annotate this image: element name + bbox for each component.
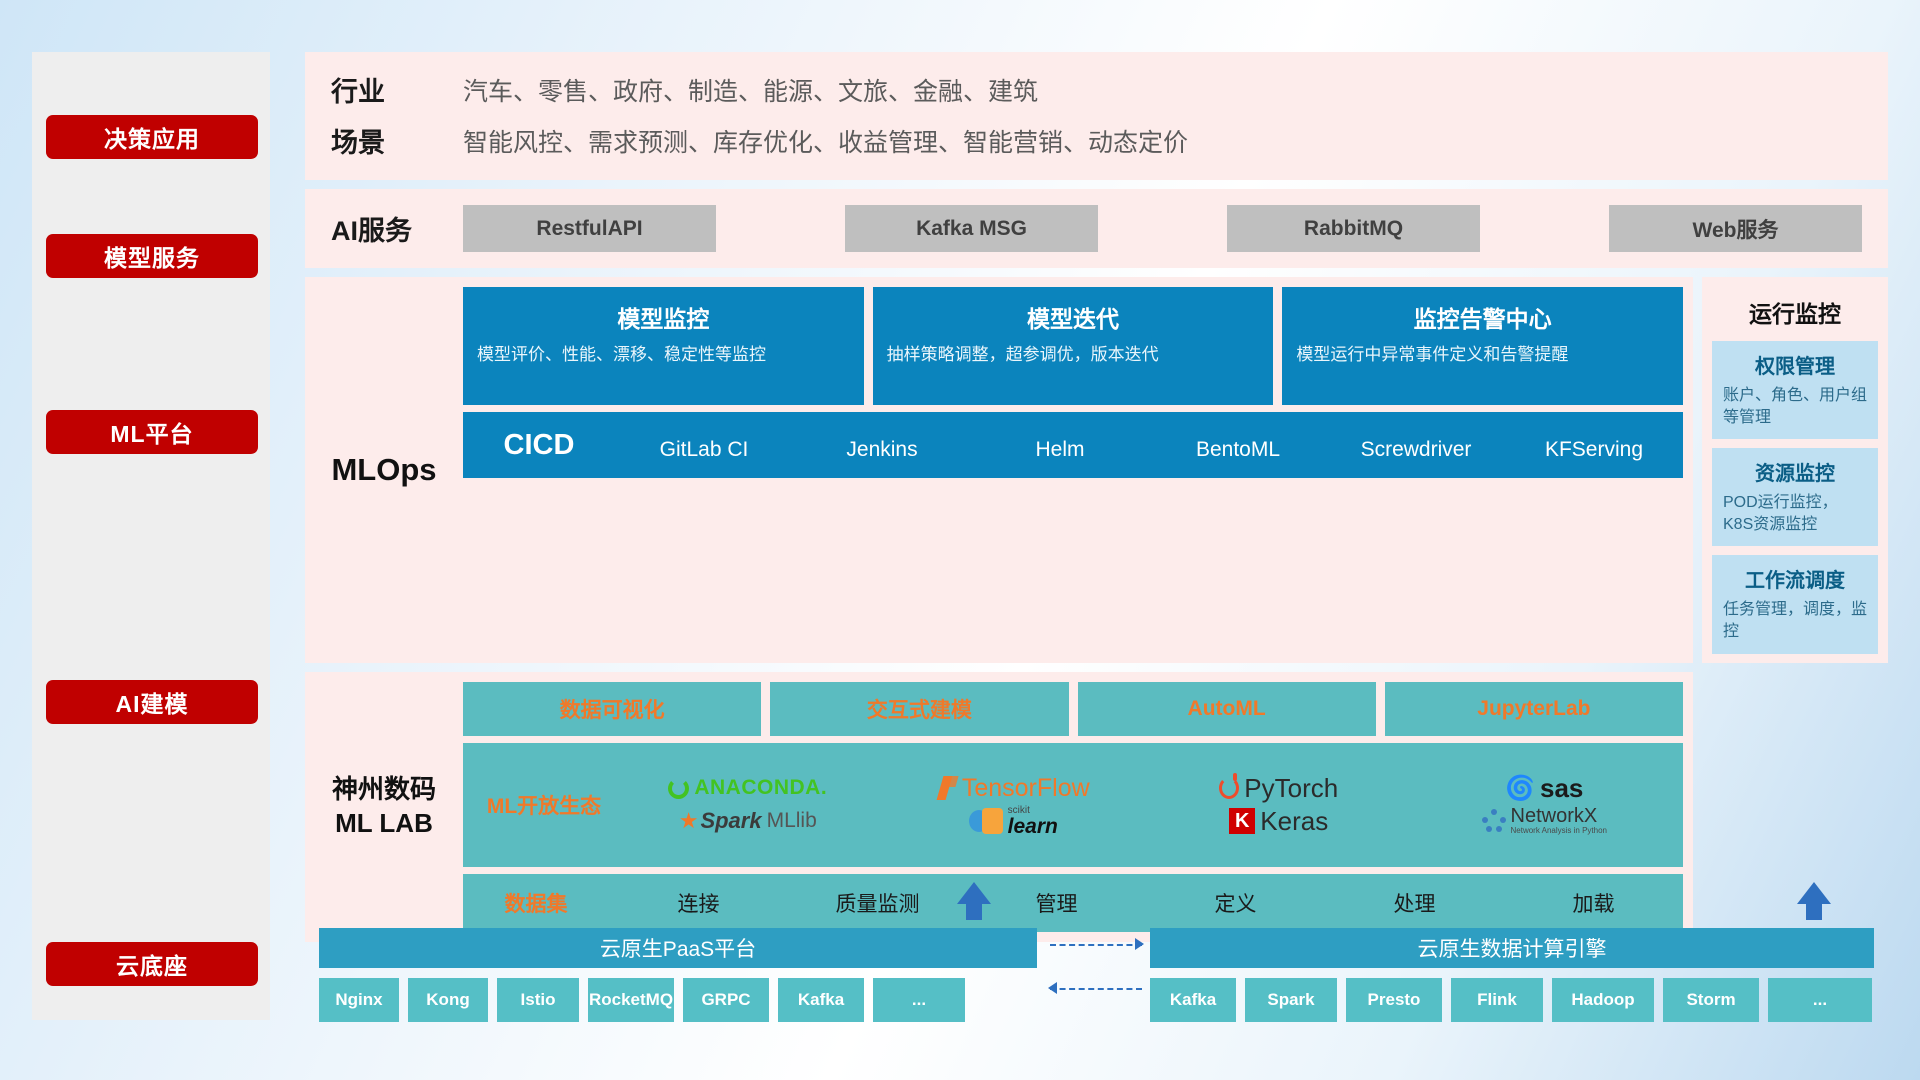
tensorflow-mark-icon [937,776,957,800]
card-title: 权限管理 [1723,350,1867,379]
data-engine-label: 云原生数据计算引擎 [1418,933,1607,963]
logo-text: sas [1540,773,1583,804]
tag-label: Istio [521,991,556,1009]
card-desc: 账户、角色、用户组等管理 [1723,385,1867,428]
card-title: 模型监控 [477,300,850,334]
chip-label: Kafka MSG [916,217,1027,241]
card-title: 工作流调度 [1723,564,1867,593]
keras-logo[interactable]: K Keras [1229,806,1328,837]
logo-text: NetworkX [1511,806,1608,827]
runtime-monitor-column: 运行监控 权限管理 账户、角色、用户组等管理 资源监控 POD运行监控，K8S资… [1702,277,1888,663]
cicd-row: CICD GitLab CI Jenkins Helm BentoML Scre… [463,412,1683,478]
dashed-line-left [1050,988,1142,990]
tag-spark[interactable]: Spark [1245,978,1337,1022]
cicd-tool-helm[interactable]: Helm [971,439,1149,461]
tag-label: Kong [426,991,469,1009]
ai-service-band: AI服务 RestfulAPI Kafka MSG RabbitMQ Web服务 [305,189,1888,268]
tag-label: RocketMQ [589,991,673,1009]
mlops-card-model-iteration[interactable]: 模型迭代 抽样策略调整，超参调优，版本迭代 [873,287,1274,405]
main-stack: 行业 汽车、零售、政府、制造、能源、文旅、金融、建筑 场景 智能风控、需求预测、… [305,52,1888,942]
ai-service-label: AI服务 [331,209,463,248]
card-desc: 任务管理，调度，监控 [1723,599,1867,642]
industry-values: 汽车、零售、政府、制造、能源、文旅、金融、建筑 [463,72,1038,108]
tag-label: Storm [1686,991,1735,1009]
chip-label: RestfulAPI [536,217,642,241]
tag-label: ... [912,991,926,1009]
ml-open-ecosystem: ML开放生态 ANACONDA. TensorFlow [463,743,1683,867]
spark-mllib-logo[interactable]: ★ Spark MLlib [679,808,817,834]
logo-text: MLlib [767,809,817,833]
paas-platform-bar[interactable]: 云原生PaaS平台 [319,928,1037,968]
keras-k-icon: K [1229,808,1255,834]
runtime-monitor-card-list: 权限管理 账户、角色、用户组等管理 资源监控 POD运行监控，K8S资源监控 工… [1712,341,1878,654]
card-desc: 抽样策略调整，超参调优，版本迭代 [887,343,1260,366]
chip-web-service[interactable]: Web服务 [1609,205,1862,252]
logo-text: PyTorch [1244,773,1338,804]
mllab-tab-row: 数据可视化 交互式建模 AutoML JupyterLab [463,682,1683,736]
mlops-content: 模型监控 模型评价、性能、漂移、稳定性等监控 模型迭代 抽样策略调整，超参调优，… [463,287,1693,653]
arrow-stem-paas [966,904,982,920]
card-desc: POD运行监控，K8S资源监控 [1723,492,1867,535]
mlops-band: MLOps 模型监控 模型评价、性能、漂移、稳定性等监控 模型迭代 抽样策略调整… [305,277,1693,663]
sidebar-item-ml-platform[interactable]: ML平台 [46,410,258,454]
tag-flink[interactable]: Flink [1451,978,1543,1022]
paas-tag-list: Nginx Kong Istio RocketMQ GRPC Kafka ... [319,978,965,1022]
card-title: 模型迭代 [887,300,1260,334]
tag-nginx[interactable]: Nginx [319,978,399,1022]
scenario-label: 场景 [331,121,463,160]
cicd-tool-kfserving[interactable]: KFServing [1505,439,1683,461]
logo-text: TensorFlow [962,774,1090,803]
card-title: 监控告警中心 [1296,300,1669,334]
sidebar-item-label: 云底座 [116,947,188,981]
logo-text: learn [1008,816,1058,837]
pytorch-flame-icon [1219,777,1239,799]
decision-application-band: 行业 汽车、零售、政府、制造、能源、文旅、金融、建筑 场景 智能风控、需求预测、… [305,52,1888,180]
data-engine-tag-list: Kafka Spark Presto Flink Hadoop Storm ..… [1150,978,1872,1022]
tag-label: Hadoop [1571,991,1634,1009]
arrowhead-left-icon [1048,982,1057,994]
monitor-card-permission[interactable]: 权限管理 账户、角色、用户组等管理 [1712,341,1878,439]
tab-automl[interactable]: AutoML [1078,682,1376,736]
industry-label: 行业 [331,70,463,109]
chip-label: RabbitMQ [1304,217,1403,241]
mlops-card-alert-center[interactable]: 监控告警中心 模型运行中异常事件定义和告警提醒 [1282,287,1683,405]
tag-label: ... [1813,991,1827,1009]
arrow-up-paas-icon [957,882,991,904]
logo-subtext: Spark [700,808,761,834]
cloud-base-section: 云原生PaaS平台 云原生数据计算引擎 Nginx Kong Istio Roc… [305,880,1888,1020]
tag-label: Flink [1477,991,1517,1009]
mlops-label: MLOps [305,287,463,653]
mllab-label-line2: ML LAB [332,807,436,841]
card-desc: 模型评价、性能、漂移、稳定性等监控 [477,343,850,366]
tab-label: 数据可视化 [560,694,665,724]
logo-text: Keras [1260,806,1328,837]
pytorch-logo[interactable]: PyTorch [1219,773,1338,804]
card-desc: 模型运行中异常事件定义和告警提醒 [1296,343,1669,366]
card-title: 资源监控 [1723,457,1867,486]
tag-label: Kafka [798,991,844,1009]
spark-star-icon: ★ [679,808,699,834]
tag-more-engine[interactable]: ... [1768,978,1872,1022]
tab-interactive-modeling[interactable]: 交互式建模 [770,682,1068,736]
tag-label: Spark [1267,991,1314,1009]
tag-hadoop[interactable]: Hadoop [1552,978,1654,1022]
cicd-label: CICD [463,429,615,462]
networkx-logo[interactable]: NetworkX Network Analysis in Python [1482,806,1608,835]
tag-label: Kafka [1170,991,1216,1009]
tab-label: 交互式建模 [867,694,972,724]
architecture-diagram: 决策应用 模型服务 ML平台 AI建模 云底座 行业 汽车、零售、政府、制造、能… [0,0,1920,1080]
cicd-tool-gitlab-ci[interactable]: GitLab CI [615,439,793,461]
mlops-card-model-monitoring[interactable]: 模型监控 模型评价、性能、漂移、稳定性等监控 [463,287,864,405]
ml-platform-row: MLOps 模型监控 模型评价、性能、漂移、稳定性等监控 模型迭代 抽样策略调整… [305,277,1888,663]
scenario-values: 智能风控、需求预测、库存优化、收益管理、智能营销、动态定价 [463,123,1188,159]
logo-subtext: Network Analysis in Python [1511,827,1608,835]
tag-grpc[interactable]: GRPC [683,978,769,1022]
scikit-learn-logo[interactable]: scikit learn [969,806,1058,837]
anaconda-ring-icon [668,778,689,799]
networkx-graph-icon [1482,809,1506,833]
tag-kong[interactable]: Kong [408,978,488,1022]
sas-logo[interactable]: 🌀 sas [1505,773,1583,804]
tag-label: Nginx [335,991,382,1009]
tag-storm[interactable]: Storm [1663,978,1759,1022]
scikit-learn-mark-icon [969,808,1003,834]
bidirectional-link [1050,944,1142,1002]
sidebar-item-label: 模型服务 [104,239,200,273]
tab-label: AutoML [1188,697,1266,721]
tab-label: JupyterLab [1477,697,1590,721]
arrowhead-right-icon [1135,938,1144,950]
ecosystem-logo-grid: ANACONDA. TensorFlow PyTorch [617,773,1675,837]
tab-data-visualization[interactable]: 数据可视化 [463,682,761,736]
tag-rocketmq[interactable]: RocketMQ [588,978,674,1022]
sidebar-item-label: ML平台 [110,415,193,449]
mllab-label-line1: 神州数码 [332,773,436,807]
tag-label: GRPC [701,991,750,1009]
ecosystem-label: ML开放生态 [471,790,617,820]
tag-presto[interactable]: Presto [1346,978,1442,1022]
monitor-card-resource[interactable]: 资源监控 POD运行监控，K8S资源监控 [1712,448,1878,546]
arrow-stem-data-engine [1806,904,1822,920]
layer-rail: 决策应用 模型服务 ML平台 AI建模 云底座 [32,52,270,1020]
chip-label: Web服务 [1693,214,1779,244]
sidebar-item-cloud-base[interactable]: 云底座 [46,942,258,986]
mlops-card-row: 模型监控 模型评价、性能、漂移、稳定性等监控 模型迭代 抽样策略调整，超参调优，… [463,287,1683,405]
paas-platform-label: 云原生PaaS平台 [600,933,756,963]
anaconda-logo[interactable]: ANACONDA. [668,776,827,800]
tensorflow-logo[interactable]: TensorFlow [937,774,1090,803]
sidebar-item-model-service[interactable]: 模型服务 [46,234,258,278]
logo-text: ANACONDA. [694,776,827,800]
sidebar-item-label: AI建模 [116,685,189,719]
chip-kafka-msg[interactable]: Kafka MSG [845,205,1098,252]
ai-service-chip-list: RestfulAPI Kafka MSG RabbitMQ Web服务 [463,205,1862,252]
tag-more-paas[interactable]: ... [873,978,965,1022]
tag-label: Presto [1368,991,1421,1009]
sidebar-item-decision-app[interactable]: 决策应用 [46,115,258,159]
sidebar-item-label: 决策应用 [104,120,200,154]
runtime-monitor-title: 运行监控 [1712,286,1878,341]
tag-istio[interactable]: Istio [497,978,579,1022]
data-engine-bar[interactable]: 云原生数据计算引擎 [1150,928,1874,968]
tab-jupyterlab[interactable]: JupyterLab [1385,682,1683,736]
monitor-card-workflow[interactable]: 工作流调度 任务管理，调度，监控 [1712,555,1878,653]
sas-swirl-icon: 🌀 [1505,774,1535,803]
sidebar-item-ai-modeling[interactable]: AI建模 [46,680,258,724]
industry-row: 行业 汽车、零售、政府、制造、能源、文旅、金融、建筑 [331,70,1862,109]
chip-restful-api[interactable]: RestfulAPI [463,205,716,252]
dashed-line-right [1050,944,1142,946]
cicd-tool-bentoml[interactable]: BentoML [1149,439,1327,461]
chip-rabbitmq[interactable]: RabbitMQ [1227,205,1480,252]
arrow-up-data-engine-icon [1797,882,1831,904]
tag-kafka[interactable]: Kafka [778,978,864,1022]
cicd-tool-list: GitLab CI Jenkins Helm BentoML Screwdriv… [615,429,1683,461]
cicd-tool-jenkins[interactable]: Jenkins [793,439,971,461]
cicd-tool-screwdriver[interactable]: Screwdriver [1327,439,1505,461]
tag-kafka-engine[interactable]: Kafka [1150,978,1236,1022]
scenario-row: 场景 智能风控、需求预测、库存优化、收益管理、智能营销、动态定价 [331,121,1862,160]
